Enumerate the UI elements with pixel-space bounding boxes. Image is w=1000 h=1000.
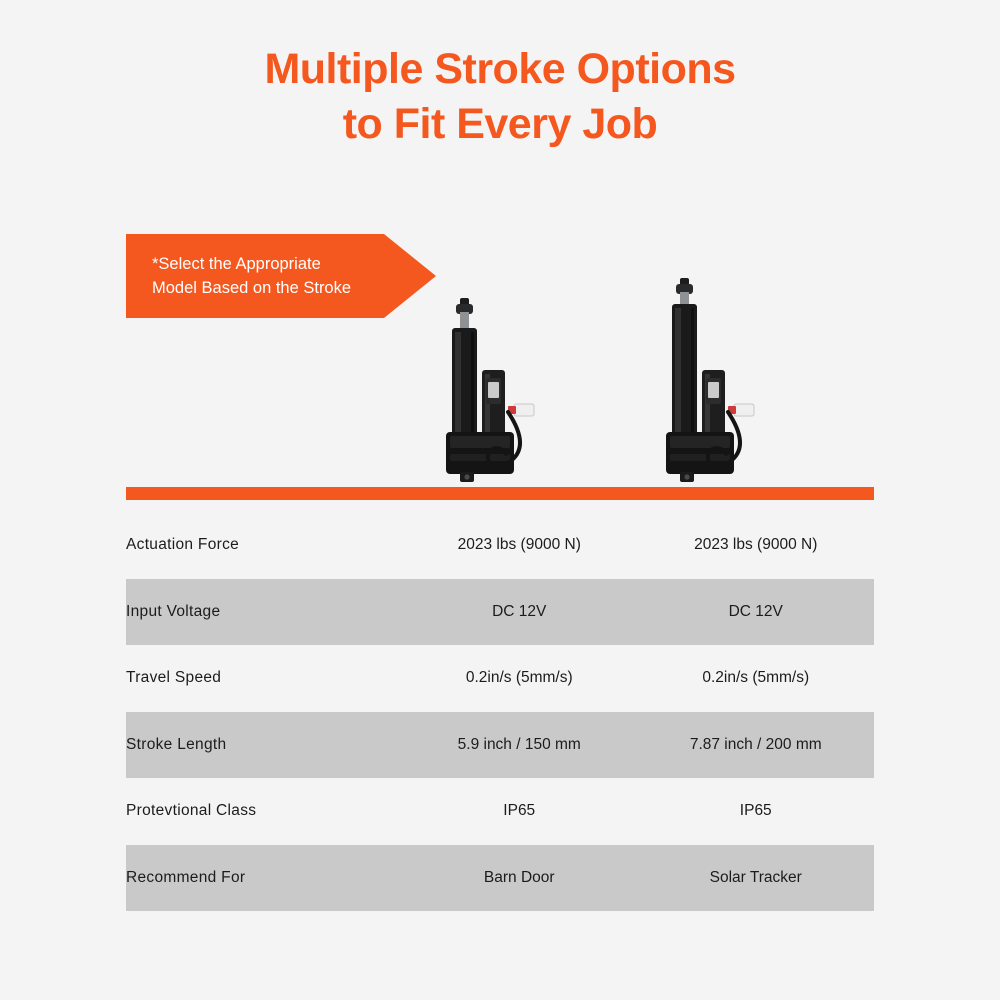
row-value-2: 7.87 inch / 200 mm: [638, 712, 875, 779]
product-image-2: [650, 270, 830, 490]
table-row: Input Voltage DC 12V DC 12V: [126, 579, 874, 646]
title-line-1: Multiple Stroke Options: [0, 42, 1000, 97]
select-model-banner: *Select the Appropriate Model Based on t…: [126, 234, 436, 318]
row-label: Recommend For: [126, 845, 401, 912]
row-value-2: DC 12V: [638, 579, 875, 646]
table-row: Actuation Force 2023 lbs (9000 N) 2023 l…: [126, 512, 874, 579]
table-row: Protevtional Class IP65 IP65: [126, 778, 874, 845]
product-spec-page: Multiple Stroke Options to Fit Every Job…: [0, 0, 1000, 1000]
row-value-1: 2023 lbs (9000 N): [401, 512, 638, 579]
row-value-1: 5.9 inch / 150 mm: [401, 712, 638, 779]
divider-bar: [126, 487, 874, 500]
row-value-1: 0.2in/s (5mm/s): [401, 645, 638, 712]
row-value-1: Barn Door: [401, 845, 638, 912]
banner-line-1: *Select the Appropriate: [152, 252, 377, 276]
table-row: Stroke Length 5.9 inch / 150 mm 7.87 inc…: [126, 712, 874, 779]
row-label: Stroke Length: [126, 712, 401, 779]
banner-line-2: Model Based on the Stroke: [152, 276, 377, 300]
banner-arrow-icon: [384, 234, 436, 318]
table-row: Recommend For Barn Door Solar Tracker: [126, 845, 874, 912]
row-value-2: 2023 lbs (9000 N): [638, 512, 875, 579]
page-title: Multiple Stroke Options to Fit Every Job: [0, 42, 1000, 152]
title-line-2: to Fit Every Job: [0, 97, 1000, 152]
product-image-1: [430, 270, 610, 490]
table-row: Travel Speed 0.2in/s (5mm/s) 0.2in/s (5m…: [126, 645, 874, 712]
row-value-2: Solar Tracker: [638, 845, 875, 912]
row-label: Actuation Force: [126, 512, 401, 579]
row-value-2: IP65: [638, 778, 875, 845]
row-label: Travel Speed: [126, 645, 401, 712]
row-value-1: DC 12V: [401, 579, 638, 646]
row-label: Input Voltage: [126, 579, 401, 646]
row-value-1: IP65: [401, 778, 638, 845]
spec-table: Actuation Force 2023 lbs (9000 N) 2023 l…: [126, 512, 874, 911]
row-label: Protevtional Class: [126, 778, 401, 845]
row-value-2: 0.2in/s (5mm/s): [638, 645, 875, 712]
banner-text: *Select the Appropriate Model Based on t…: [152, 252, 377, 300]
